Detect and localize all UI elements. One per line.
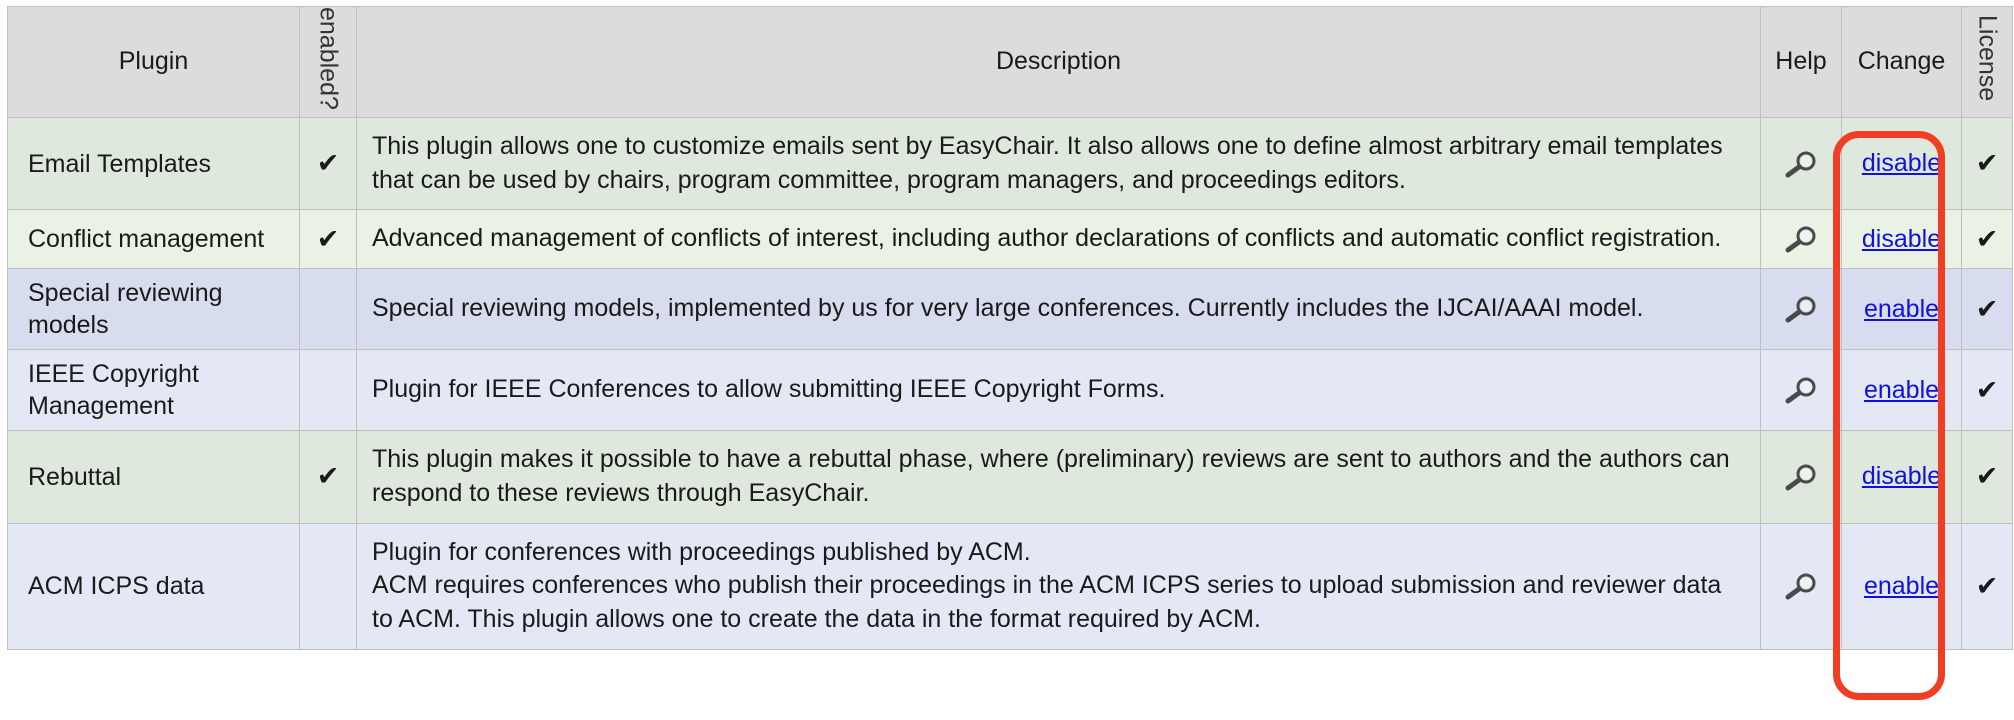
cell-enabled-check: ✔ bbox=[300, 431, 357, 524]
cell-plugin-name: Conflict management bbox=[8, 210, 300, 269]
header-description: Description bbox=[357, 7, 1761, 118]
magnifier-icon[interactable] bbox=[1781, 224, 1821, 254]
magnifier-icon[interactable] bbox=[1781, 462, 1821, 492]
cell-enabled-check: ✔ bbox=[300, 117, 357, 210]
cell-change[interactable]: enable bbox=[1842, 523, 1962, 649]
cell-change[interactable]: enable bbox=[1842, 269, 1962, 350]
cell-license-check: ✔ bbox=[1962, 117, 2013, 210]
header-help: Help bbox=[1761, 7, 1842, 118]
change-link[interactable]: enable bbox=[1864, 295, 1939, 323]
plugins-table: Plugin enabled? Description Help Change … bbox=[7, 6, 2013, 650]
cell-change[interactable]: disable bbox=[1842, 431, 1962, 524]
cell-plugin-name: Rebuttal bbox=[8, 431, 300, 524]
header-enabled-label: enabled? bbox=[316, 7, 341, 110]
cell-license-check: ✔ bbox=[1962, 523, 2013, 649]
cell-help[interactable] bbox=[1761, 523, 1842, 649]
change-link[interactable]: disable bbox=[1862, 462, 1941, 490]
cell-change[interactable]: enable bbox=[1842, 350, 1962, 431]
magnifier-icon[interactable] bbox=[1781, 294, 1821, 324]
table-row: Rebuttal ✔ This plugin makes it possible… bbox=[8, 431, 2013, 524]
table-row: Conflict management ✔ Advanced managemen… bbox=[8, 210, 2013, 269]
cell-description: This plugin makes it possible to have a … bbox=[357, 431, 1761, 524]
cell-help[interactable] bbox=[1761, 117, 1842, 210]
magnifier-icon[interactable] bbox=[1781, 375, 1821, 405]
table-body: Email Templates ✔ This plugin allows one… bbox=[8, 117, 2013, 649]
cell-description: Special reviewing models, implemented by… bbox=[357, 269, 1761, 350]
cell-plugin-name: Email Templates bbox=[8, 117, 300, 210]
cell-enabled-check bbox=[300, 269, 357, 350]
change-link[interactable]: disable bbox=[1862, 149, 1941, 177]
cell-enabled-check bbox=[300, 350, 357, 431]
cell-change[interactable]: disable bbox=[1842, 210, 1962, 269]
cell-description: Advanced management of conflicts of inte… bbox=[357, 210, 1761, 269]
table-header: Plugin enabled? Description Help Change … bbox=[8, 7, 2013, 118]
description-line-2: ACM requires conferences who publish the… bbox=[372, 571, 1721, 633]
header-row: Plugin enabled? Description Help Change … bbox=[8, 7, 2013, 118]
cell-license-check: ✔ bbox=[1962, 269, 2013, 350]
cell-license-check: ✔ bbox=[1962, 350, 2013, 431]
plugins-page: Plugin enabled? Description Help Change … bbox=[0, 0, 2014, 720]
cell-description: Plugin for conferences with proceedings … bbox=[357, 523, 1761, 649]
change-link[interactable]: disable bbox=[1862, 225, 1941, 253]
header-license-label: License bbox=[1975, 15, 2000, 101]
cell-description: Plugin for IEEE Conferences to allow sub… bbox=[357, 350, 1761, 431]
cell-change[interactable]: disable bbox=[1842, 117, 1962, 210]
magnifier-icon[interactable] bbox=[1781, 571, 1821, 601]
cell-license-check: ✔ bbox=[1962, 431, 2013, 524]
cell-license-check: ✔ bbox=[1962, 210, 2013, 269]
change-link[interactable]: enable bbox=[1864, 572, 1939, 600]
header-plugin: Plugin bbox=[8, 7, 300, 118]
header-enabled: enabled? bbox=[300, 7, 357, 118]
cell-enabled-check bbox=[300, 523, 357, 649]
cell-plugin-name: IEEE Copyright Management bbox=[8, 350, 300, 431]
cell-help[interactable] bbox=[1761, 269, 1842, 350]
cell-plugin-name: ACM ICPS data bbox=[8, 523, 300, 649]
cell-description: This plugin allows one to customize emai… bbox=[357, 117, 1761, 210]
change-link[interactable]: enable bbox=[1864, 376, 1939, 404]
cell-help[interactable] bbox=[1761, 210, 1842, 269]
header-license: License bbox=[1962, 7, 2013, 118]
table-row: ACM ICPS data Plugin for conferences wit… bbox=[8, 523, 2013, 649]
cell-enabled-check: ✔ bbox=[300, 210, 357, 269]
magnifier-icon[interactable] bbox=[1781, 149, 1821, 179]
description-line-1: Plugin for conferences with proceedings … bbox=[372, 538, 1031, 566]
header-change: Change bbox=[1842, 7, 1962, 118]
cell-help[interactable] bbox=[1761, 431, 1842, 524]
table-row: IEEE Copyright Management Plugin for IEE… bbox=[8, 350, 2013, 431]
table-row: Special reviewing models Special reviewi… bbox=[8, 269, 2013, 350]
cell-plugin-name: Special reviewing models bbox=[8, 269, 300, 350]
cell-help[interactable] bbox=[1761, 350, 1842, 431]
table-row: Email Templates ✔ This plugin allows one… bbox=[8, 117, 2013, 210]
